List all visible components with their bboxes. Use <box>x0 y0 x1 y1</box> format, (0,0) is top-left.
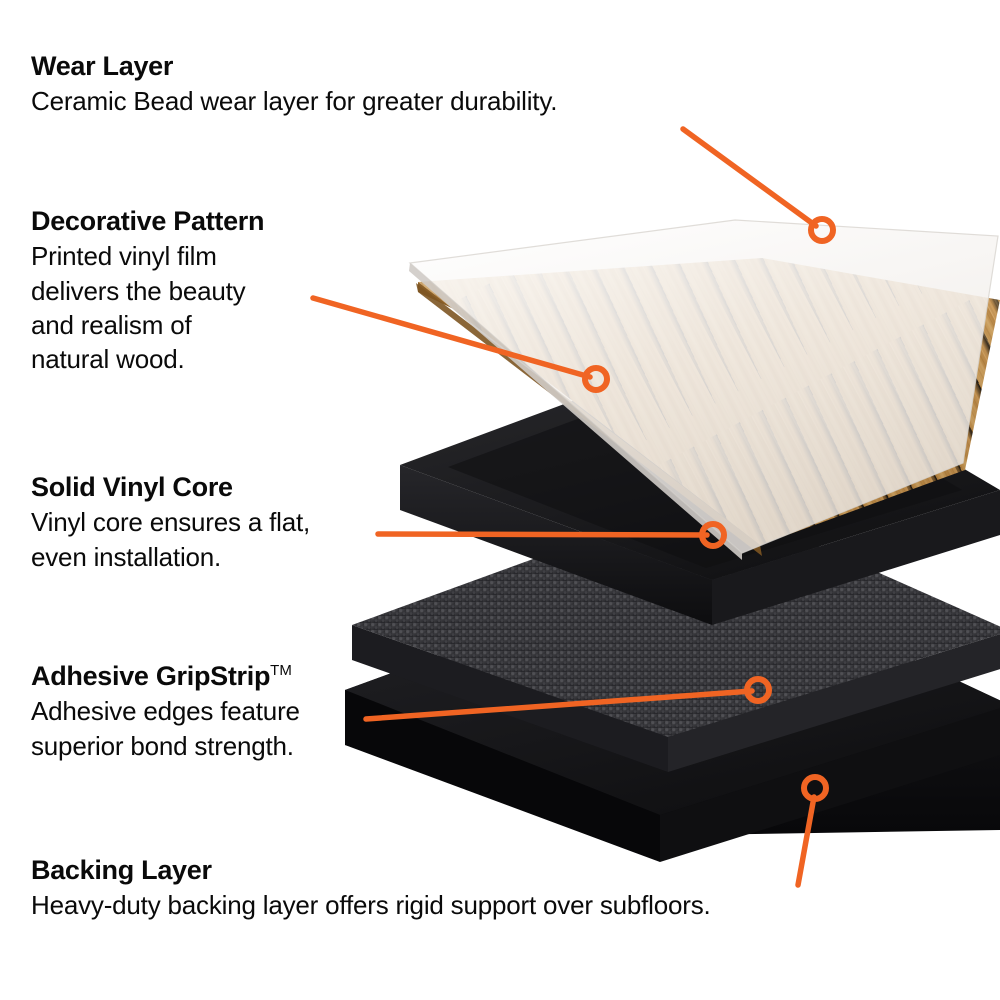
callout-body-adhesive-gripstrip: Adhesive edges feature superior bond str… <box>31 694 300 763</box>
callout-title-wear-layer: Wear Layer <box>31 51 557 81</box>
callout-line: Ceramic Bead wear layer for greater dura… <box>31 84 557 118</box>
leader-solid-vinyl-core <box>378 534 707 535</box>
callout-body-wear-layer: Ceramic Bead wear layer for greater dura… <box>31 84 557 118</box>
callout-adhesive-gripstrip: Adhesive GripStripTM Adhesive edges feat… <box>31 661 300 763</box>
callout-line: superior bond strength. <box>31 729 300 763</box>
diagram-canvas: Wear Layer Ceramic Bead wear layer for g… <box>0 0 1000 1000</box>
callout-title-backing-layer: Backing Layer <box>31 855 711 885</box>
callout-line: delivers the beauty <box>31 274 264 308</box>
callout-line: Adhesive edges feature <box>31 694 300 728</box>
callout-solid-vinyl-core: Solid Vinyl Core Vinyl core ensures a fl… <box>31 472 310 574</box>
callout-body-backing-layer: Heavy-duty backing layer offers rigid su… <box>31 888 711 922</box>
callout-line: natural wood. <box>31 342 264 376</box>
callout-line: and realism of <box>31 308 264 342</box>
callout-line: Vinyl core ensures a flat, <box>31 505 310 539</box>
callout-title-adhesive-gripstrip: Adhesive GripStripTM <box>31 661 300 691</box>
callout-body-solid-vinyl-core: Vinyl core ensures a flat, even installa… <box>31 505 310 574</box>
callout-line: even installation. <box>31 540 310 574</box>
trademark-symbol: TM <box>270 662 292 679</box>
callout-body-decorative-pattern: Printed vinyl film delivers the beauty a… <box>31 239 264 376</box>
callout-title-decorative-pattern: Decorative Pattern <box>31 206 264 236</box>
callout-line: Printed vinyl film <box>31 239 264 273</box>
leader-wear-layer <box>683 129 816 226</box>
callout-backing-layer: Backing Layer Heavy-duty backing layer o… <box>31 855 711 923</box>
callout-title-solid-vinyl-core: Solid Vinyl Core <box>31 472 310 502</box>
callout-line: Heavy-duty backing layer offers rigid su… <box>31 888 711 922</box>
callout-decorative-pattern: Decorative Pattern Printed vinyl film de… <box>31 206 264 376</box>
callout-wear-layer: Wear Layer Ceramic Bead wear layer for g… <box>31 51 557 119</box>
callout-title-text: Adhesive GripStrip <box>31 661 270 691</box>
